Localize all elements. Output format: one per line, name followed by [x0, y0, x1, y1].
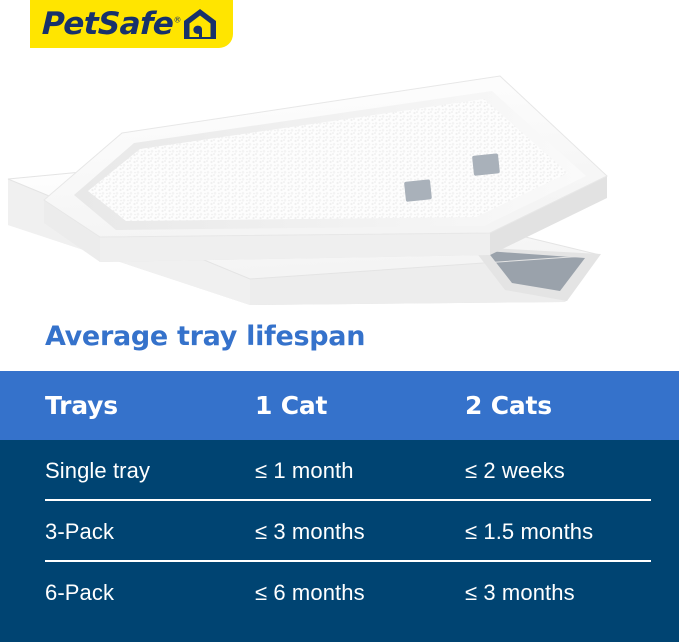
cell-two-cats: ≤ 3 months	[465, 580, 679, 606]
cell-two-cats: ≤ 1.5 months	[465, 519, 679, 545]
average-tray-lifespan-table: Trays 1 Cat 2 Cats Single tray ≤ 1 month…	[0, 371, 679, 642]
table-row: 6-Pack ≤ 6 months ≤ 3 months	[0, 562, 679, 623]
cell-tray-name: Single tray	[45, 458, 255, 484]
brand-logo: PetSafe®	[30, 0, 233, 48]
brand-wordmark: PetSafe®	[41, 9, 181, 40]
brand-name-text: PetSafe	[41, 6, 174, 42]
column-header-one-cat: 1 Cat	[255, 391, 465, 420]
product-image	[0, 55, 679, 305]
column-header-two-cats: 2 Cats	[465, 391, 679, 420]
registered-trademark-icon: ®	[173, 15, 181, 24]
cell-one-cat: ≤ 1 month	[255, 458, 465, 484]
doghouse-icon	[183, 8, 217, 40]
table-row: Single tray ≤ 1 month ≤ 2 weeks	[0, 440, 679, 501]
table-header-row: Trays 1 Cat 2 Cats	[0, 371, 679, 440]
page-title: Average tray lifespan	[45, 322, 365, 352]
cell-tray-name: 6-Pack	[45, 580, 255, 606]
column-header-trays: Trays	[45, 391, 255, 420]
cell-two-cats: ≤ 2 weeks	[465, 458, 679, 484]
cell-one-cat: ≤ 6 months	[255, 580, 465, 606]
cell-one-cat: ≤ 3 months	[255, 519, 465, 545]
table-row: 3-Pack ≤ 3 months ≤ 1.5 months	[0, 501, 679, 562]
upper-tray	[44, 76, 607, 262]
cell-tray-name: 3-Pack	[45, 519, 255, 545]
